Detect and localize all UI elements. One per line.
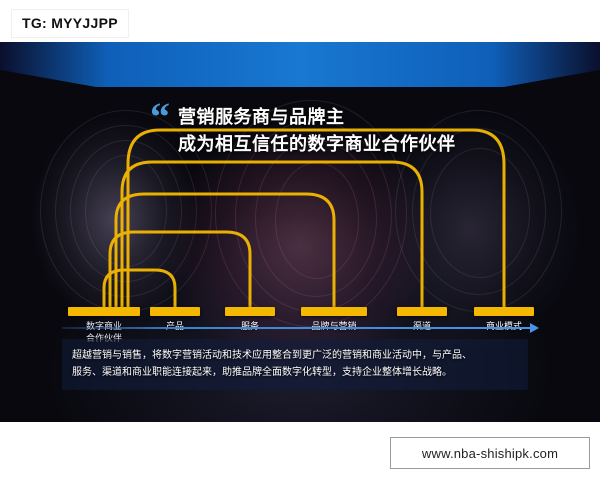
node-label: 服务: [225, 320, 275, 332]
node-label: 渠道: [397, 320, 447, 332]
slide-canvas: “ 营销服务商与品牌主 成为相互信任的数字商业合作伙伴 数字商业 合作伙伴 产品…: [0, 42, 600, 422]
node-bar: [68, 307, 140, 316]
axis-line: [62, 327, 532, 329]
tg-badge: TG: MYYJJPP: [12, 10, 128, 37]
node-label: 商业模式: [474, 320, 534, 332]
caption-line-2: 服务、渠道和商业职能连接起来，助推品牌全面数字化转型，支持企业整体增长战略。: [72, 364, 518, 381]
node-bar: [474, 307, 534, 316]
url-badge: www.nba-shishipk.com: [390, 437, 590, 469]
node-bar: [225, 307, 275, 316]
node-label: 品牌与营销: [301, 320, 367, 332]
node-label: 产品: [150, 320, 200, 332]
caption-block: 超越营销与销售，将数字营销活动和技术应用整合到更广泛的营销和商业活动中，与产品、…: [62, 339, 528, 390]
caption-line-1: 超越营销与销售，将数字营销活动和技术应用整合到更广泛的营销和商业活动中，与产品、: [72, 347, 518, 364]
node-bar: [301, 307, 367, 316]
node-bar: [150, 307, 200, 316]
axis-arrow-icon: [530, 323, 539, 333]
node-bar: [397, 307, 447, 316]
